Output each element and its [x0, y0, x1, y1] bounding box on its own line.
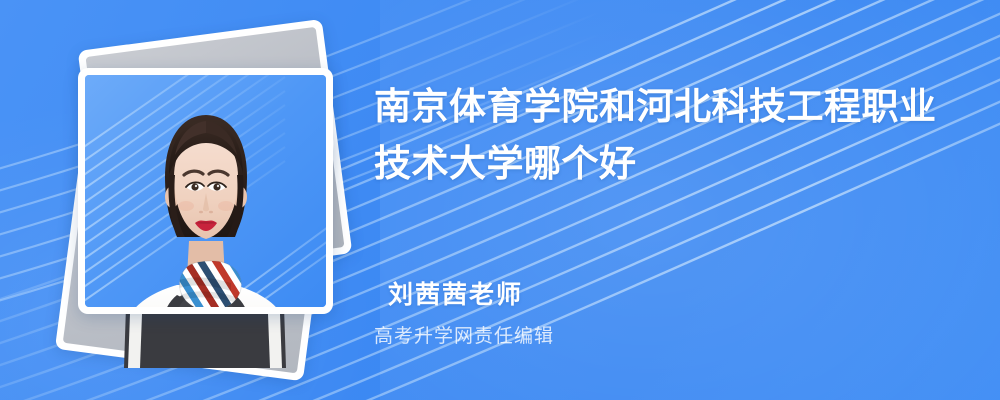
author-name: 刘茜茜老师 — [388, 275, 523, 311]
author-role: 高考升学网责任编辑 — [374, 321, 554, 348]
page-title: 南京体育学院和河北科技工程职业技术大学哪个好 — [374, 78, 954, 192]
article-cover-banner: 南京体育学院和河北科技工程职业技术大学哪个好 刘茜茜老师 高考升学网责任编辑 — [0, 0, 1000, 400]
text-column: 南京体育学院和河北科技工程职业技术大学哪个好 刘茜茜老师 高考升学网责任编辑 — [374, 0, 974, 400]
photo-viewport — [85, 75, 326, 307]
photo-card-stack — [40, 22, 360, 362]
subject-portrait — [91, 81, 321, 307]
photo-card-front — [78, 68, 333, 314]
photo-subject-clip — [85, 75, 326, 307]
